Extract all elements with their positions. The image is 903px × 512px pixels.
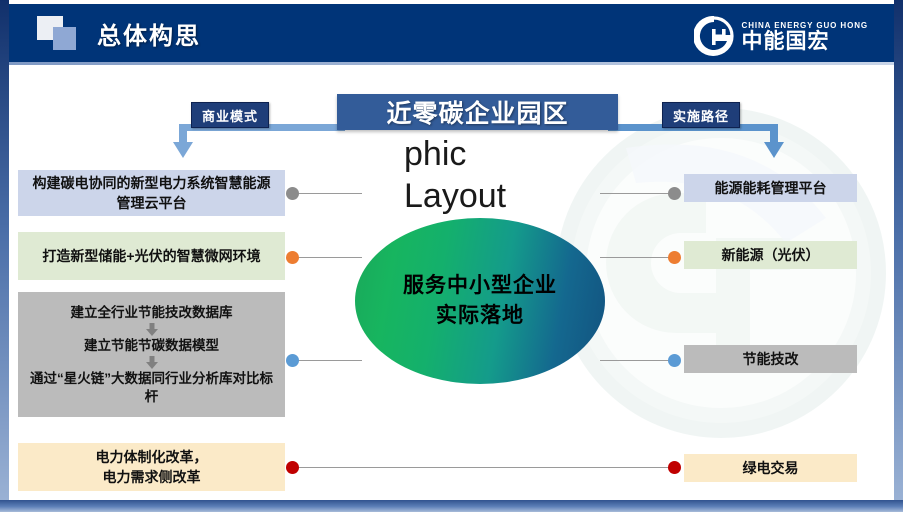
center-node-line1: 服务中小型企业	[403, 271, 557, 301]
flow-step-3: 通过“星火链”大数据同行业分析库对比标杆	[18, 370, 285, 406]
right-item-green-power-trading[interactable]: 绿电交易	[684, 454, 857, 482]
slide-frame-gap	[9, 498, 894, 500]
slide-header-bar: 总体构思 CHINA ENERGY GUO HONG 中能国宏	[9, 4, 894, 62]
brand-logo: CHINA ENERGY GUO HONG 中能国宏	[694, 15, 868, 57]
connector-dot-l1	[286, 187, 299, 200]
right-item-2-label: 新能源（光伏）	[684, 245, 857, 265]
connector-line-l2	[292, 257, 362, 258]
flow-stack: 建立全行业节能技改数据库 建立节能节碳数据模型 通过“星火链”大数据同行业分析库…	[18, 304, 285, 406]
connector-dot-r2	[668, 251, 681, 264]
right-item-4-label: 绿电交易	[684, 458, 857, 478]
left-item-storage-pv-microgrid[interactable]: 打造新型储能+光伏的智慧微网环境	[18, 232, 285, 280]
main-title-text: 近零碳企业园区	[386, 94, 568, 130]
left-item-1-label: 构建碳电协同的新型电力系统智慧能源管理云平台	[18, 173, 285, 213]
header-underline	[9, 62, 894, 65]
flow-step-1: 建立全行业节能技改数据库	[65, 304, 239, 322]
tab-implementation-path[interactable]: 实施路径	[662, 102, 740, 128]
left-item-4-label: 电力体制化改革， 电力需求侧改革	[18, 447, 285, 487]
right-item-1-label: 能源能耗管理平台	[684, 178, 857, 198]
center-node-ellipse: 服务中小型企业 实际落地	[355, 218, 605, 384]
connector-line-l1	[292, 193, 362, 194]
brand-english-name: CHINA ENERGY GUO HONG	[742, 21, 868, 30]
connector-line-l3	[292, 360, 362, 361]
slide-frame-right	[894, 0, 903, 512]
left-item-2-label: 打造新型储能+光伏的智慧微网环境	[18, 246, 285, 266]
arrow-down-icon	[145, 323, 159, 336]
right-item-energy-management-platform[interactable]: 能源能耗管理平台	[684, 174, 857, 202]
tab-implementation-path-label: 实施路径	[673, 106, 729, 125]
brand-chinese-name: 中能国宏	[742, 31, 868, 52]
left-item-power-market-reform[interactable]: 电力体制化改革， 电力需求侧改革	[18, 443, 285, 491]
right-item-energy-saving-retrofit[interactable]: 节能技改	[684, 345, 857, 373]
two-squares-icon	[37, 16, 81, 50]
right-item-3-label: 节能技改	[684, 349, 857, 369]
left-item-energy-saving-database[interactable]: 建立全行业节能技改数据库 建立节能节碳数据模型 通过“星火链”大数据同行业分析库…	[18, 292, 285, 417]
connector-line-r3	[600, 360, 672, 361]
connector-dot-r3	[668, 354, 681, 367]
connector-line-r2	[600, 257, 672, 258]
connector-dot-l4	[286, 461, 299, 474]
right-item-new-energy-pv[interactable]: 新能源（光伏）	[684, 241, 857, 269]
slide-frame-bottom	[0, 500, 903, 512]
connector-dot-l3	[286, 354, 299, 367]
connector-dot-l2	[286, 251, 299, 264]
connector-line-l4	[292, 467, 672, 468]
arrow-down-icon	[145, 356, 159, 369]
left-item-energy-cloud-platform[interactable]: 构建碳电协同的新型电力系统智慧能源管理云平台	[18, 170, 285, 216]
connector-dot-r4	[668, 461, 681, 474]
main-title-banner: 近零碳企业园区	[337, 94, 618, 130]
tab-business-model[interactable]: 商业模式	[191, 102, 269, 128]
center-node-line2: 实际落地	[403, 301, 557, 331]
page-title: 总体构思	[97, 16, 201, 51]
overlay-stray-text: phic Layout	[404, 133, 664, 217]
china-energy-guohong-logo-icon	[694, 16, 734, 56]
connector-dot-r1	[668, 187, 681, 200]
slide-frame-left	[0, 0, 9, 512]
flow-step-2: 建立节能节碳数据模型	[78, 337, 225, 355]
slide-canvas: 总体构思 CHINA ENERGY GUO HONG 中能国宏 商业模式	[0, 0, 903, 512]
connector-line-r1	[600, 193, 672, 194]
tab-business-model-label: 商业模式	[202, 106, 258, 125]
